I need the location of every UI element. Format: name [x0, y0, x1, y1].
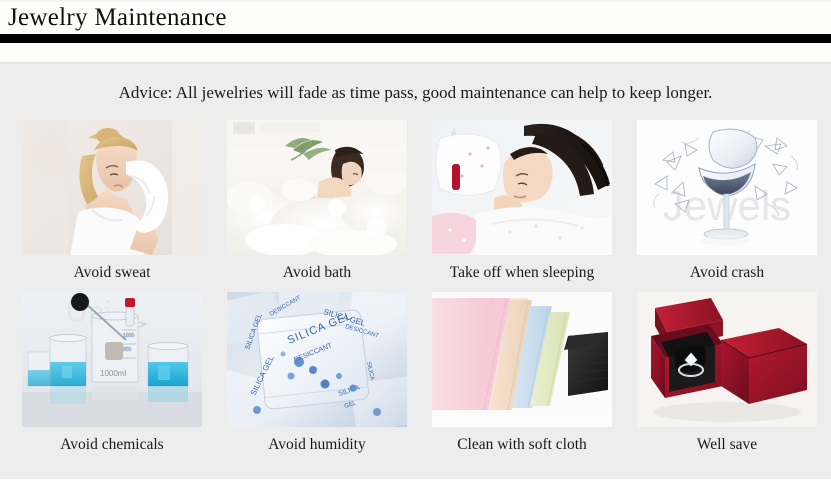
tip-caption: Avoid sweat — [74, 263, 151, 283]
tip-card-avoid-bath[interactable]: Avoid bath — [227, 120, 407, 283]
avoid-humidity-image: SILICA GEL DESICCANT SILICA GEL SILICA G… — [227, 292, 407, 427]
well-save-image — [637, 292, 817, 427]
content-panel: Advice: All jewelries will fade as time … — [0, 62, 831, 479]
page-title: Jewelry Maintenance — [8, 0, 227, 36]
tips-row-2: Uni 1000 800 1000 — [22, 292, 812, 455]
avoid-bath-image — [227, 120, 407, 255]
avoid-chemicals-image: Uni 1000 800 1000 — [22, 292, 202, 427]
tips-grid: Avoid sweat — [22, 120, 812, 455]
advice-text: Advice: All jewelries will fade as time … — [0, 82, 831, 104]
jewelry-maintenance-page: Jewelry Maintenance Advice: All jewelrie… — [0, 0, 831, 503]
take-off-when-sleeping-image — [432, 120, 612, 255]
svg-text:1000ml: 1000ml — [100, 369, 126, 378]
tip-caption: Avoid humidity — [268, 435, 365, 455]
tip-caption: Avoid crash — [690, 263, 764, 283]
tip-card-avoid-humidity[interactable]: SILICA GEL DESICCANT SILICA GEL SILICA G… — [227, 292, 407, 455]
tip-card-take-off-when-sleeping[interactable]: Take off when sleeping — [432, 120, 612, 283]
tip-caption: Well save — [697, 435, 757, 455]
tip-caption: Avoid bath — [283, 263, 351, 283]
avoid-crash-image: Jewels — [637, 120, 817, 255]
tip-caption: Clean with soft cloth — [457, 435, 587, 455]
tip-card-well-save[interactable]: Well save — [637, 292, 817, 455]
header-divider-bar — [0, 34, 831, 43]
page-header: Jewelry Maintenance — [0, 0, 831, 62]
svg-text:800: 800 — [123, 347, 132, 353]
tip-caption: Take off when sleeping — [450, 263, 595, 283]
footer-white-strip — [0, 479, 831, 503]
tip-caption: Avoid chemicals — [60, 435, 163, 455]
tip-card-avoid-sweat[interactable]: Avoid sweat — [22, 120, 202, 283]
clean-with-soft-cloth-image — [432, 292, 612, 427]
tips-row-1: Avoid sweat — [22, 120, 812, 283]
tip-card-avoid-crash[interactable]: Jewels — [637, 120, 817, 283]
tip-card-clean-with-soft-cloth[interactable]: Clean with soft cloth — [432, 292, 612, 455]
avoid-sweat-image — [22, 120, 202, 255]
tip-card-avoid-chemicals[interactable]: Uni 1000 800 1000 — [22, 292, 202, 455]
content-top-hairline — [0, 62, 831, 64]
